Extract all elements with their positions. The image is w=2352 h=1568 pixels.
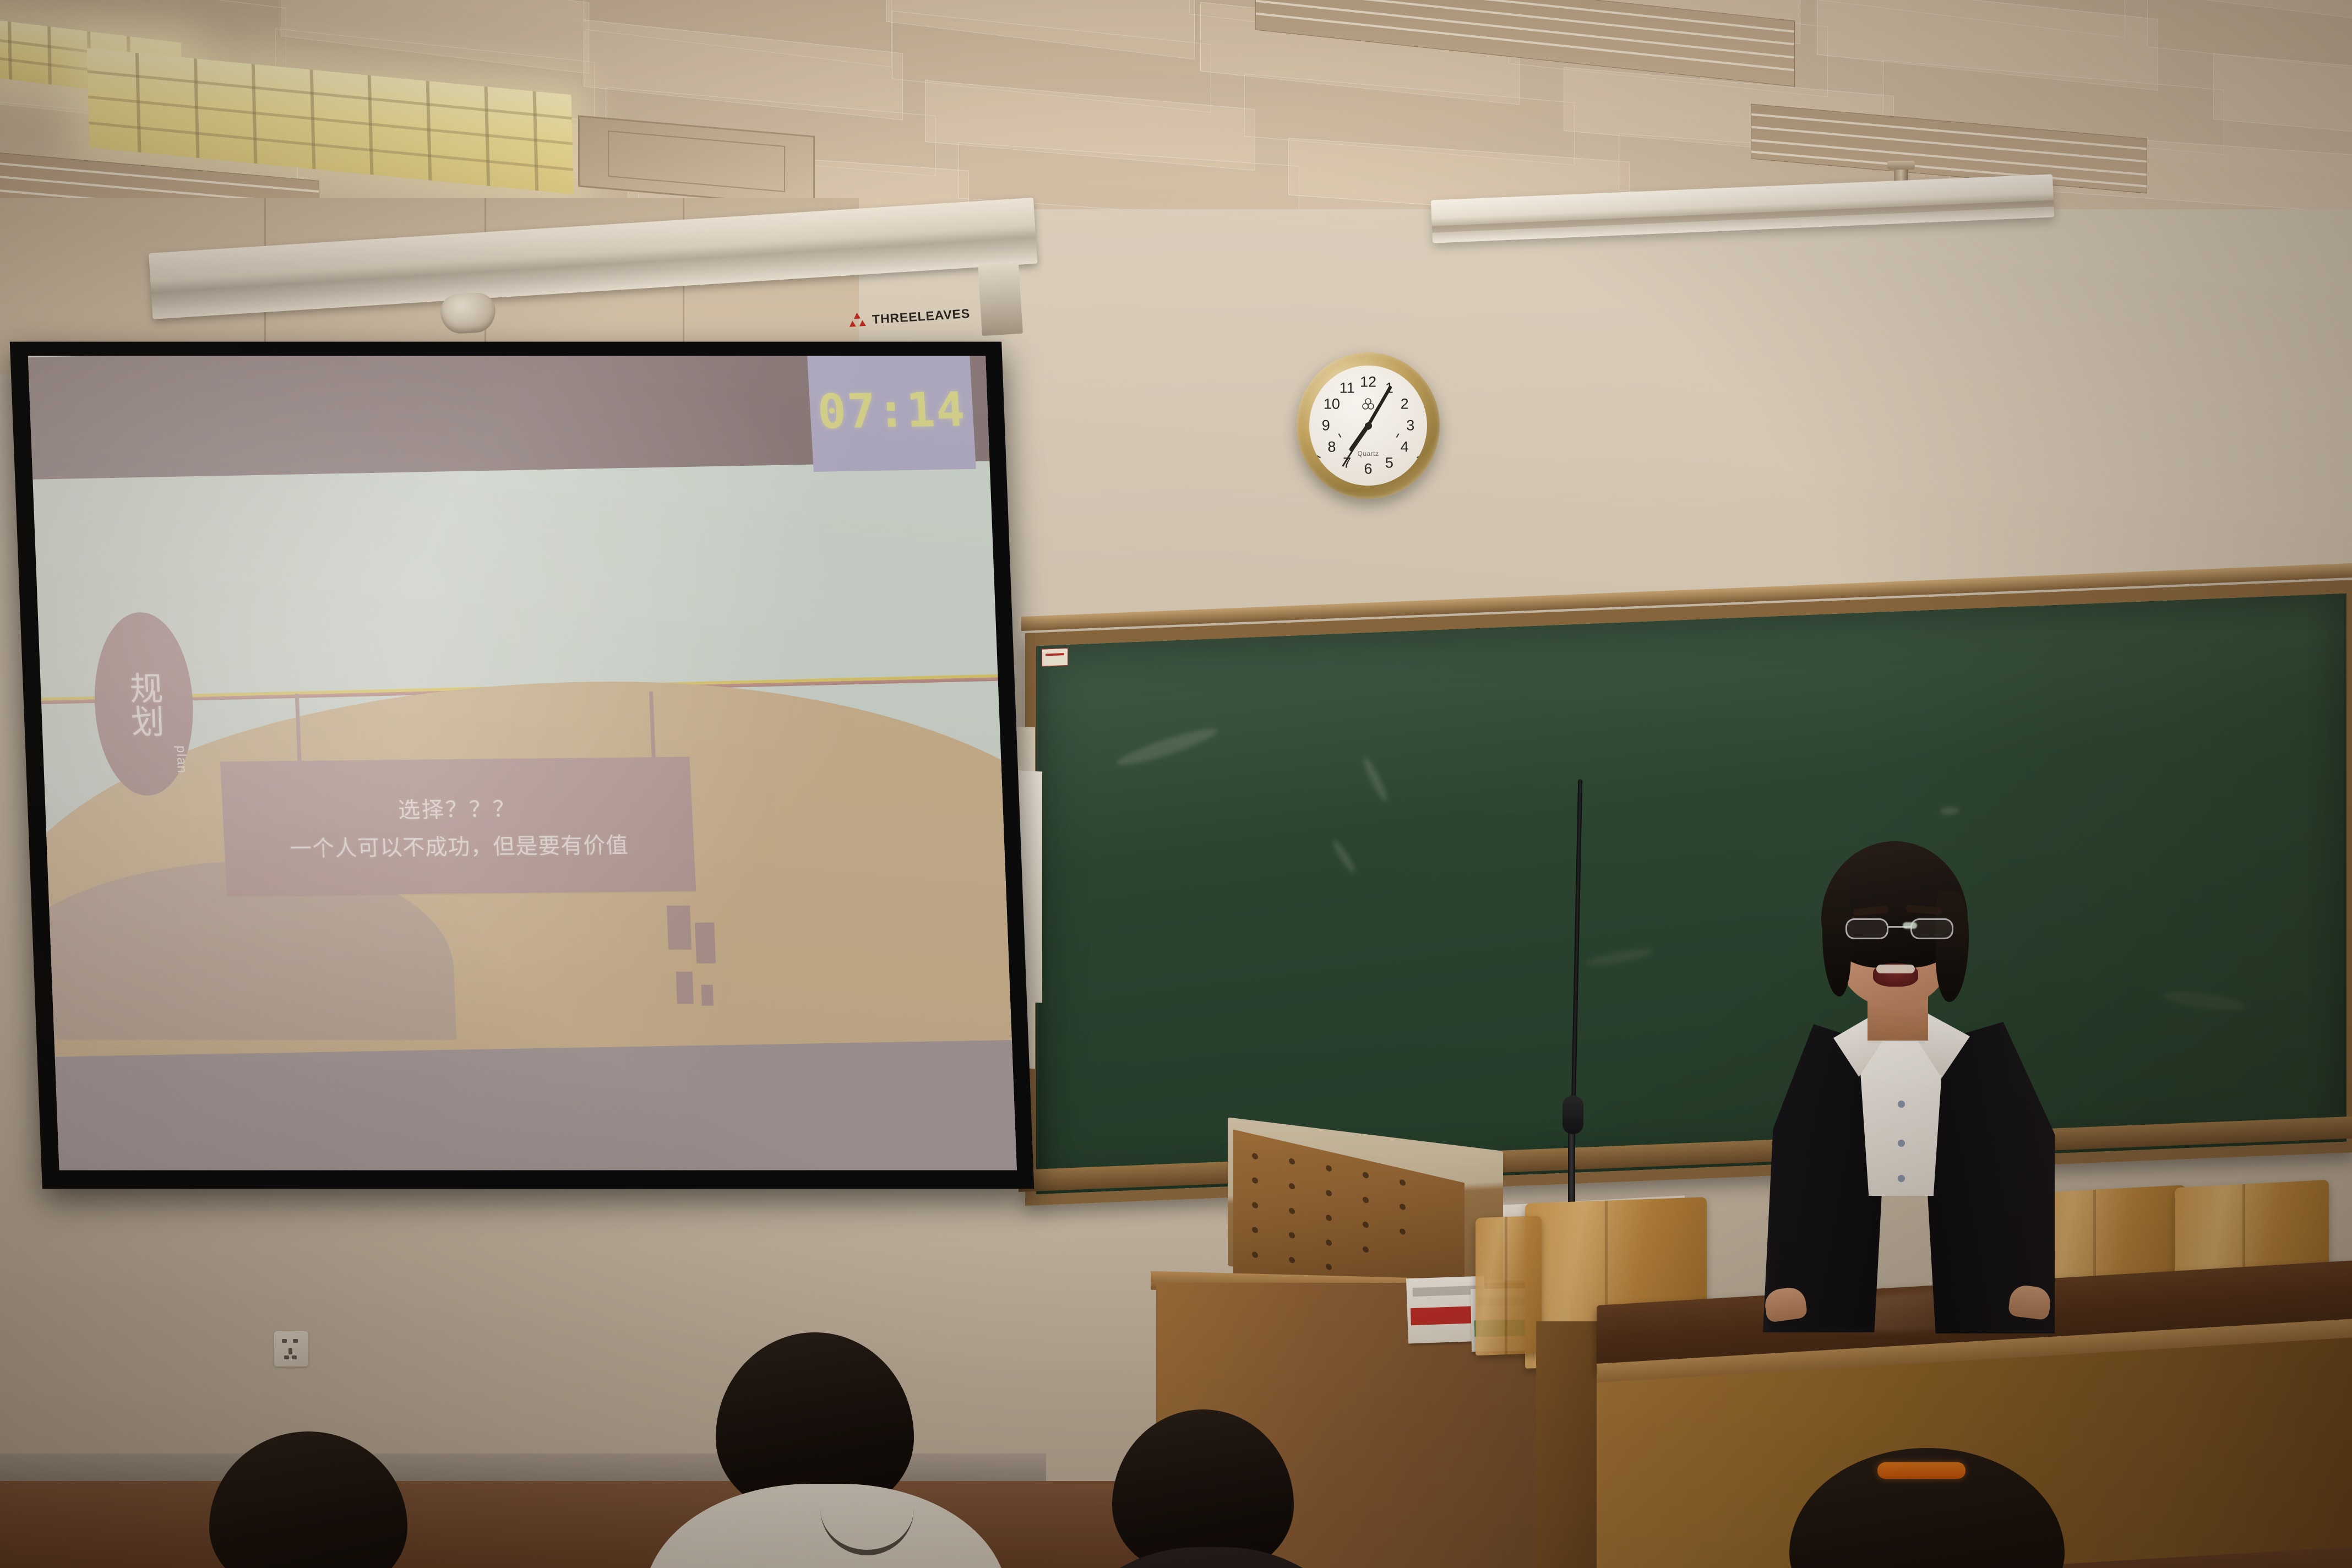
- microphone-stem: [1562, 1096, 1583, 1134]
- slide-badge-english: plan: [173, 745, 189, 774]
- clock-num-12: 12: [1360, 374, 1376, 391]
- slide-headline: 选择？？？: [397, 791, 517, 824]
- clock-num-9: 9: [1322, 417, 1330, 434]
- projection-screen[interactable]: 规划 plan 选择？？？ 一个人可以不成功，但是要有价值 剩余时间 sheng…: [10, 342, 1034, 1189]
- presenter: [1751, 826, 2059, 1321]
- clock-movement-label: Quartz: [1357, 450, 1379, 458]
- clock-num-2: 2: [1401, 395, 1409, 412]
- slide-plan-badge: 规划 plan: [91, 612, 196, 796]
- clock-num-10: 10: [1324, 395, 1340, 412]
- screen-brand-label: THREELEAVES: [872, 306, 971, 326]
- chalkboard-sticker: [1042, 648, 1068, 667]
- clock-num-11: 11: [1340, 380, 1355, 397]
- slide-bottom-band: [28, 1039, 1017, 1170]
- clock-num-5: 5: [1385, 454, 1393, 471]
- clock-num-6: 6: [1364, 460, 1372, 477]
- hair-clip-icon: [1877, 1462, 1966, 1479]
- slide-subline: 一个人可以不成功，但是要有价值: [288, 827, 629, 862]
- slide-decor-square: [667, 906, 692, 950]
- clock-brand-logo: [1361, 397, 1375, 411]
- slide-countdown-timer: 07:14: [807, 356, 976, 472]
- wall-outlet[interactable]: [274, 1331, 308, 1366]
- three-leaves-logo-icon: [847, 311, 867, 330]
- slide-decor-square: [701, 984, 714, 1005]
- slide-text-box: 选择？？？ 一个人可以不成功，但是要有价值: [220, 756, 696, 896]
- presenter-teeth: [1876, 965, 1915, 973]
- presenter-hair-left: [1822, 892, 1851, 997]
- timer-value: 07:14: [816, 382, 967, 440]
- glasses-icon: [1845, 918, 1953, 940]
- slide-surface: 规划 plan 选择？？？ 一个人可以不成功，但是要有价值 剩余时间 sheng…: [28, 356, 1017, 1170]
- clock-num-3: 3: [1406, 417, 1414, 434]
- slide-badge-chinese: 规划: [126, 671, 161, 737]
- slide-decor-square: [676, 972, 694, 1004]
- slide-decor-square: [695, 923, 716, 963]
- chalkboard: [1025, 580, 2352, 1206]
- wall-clock: 12 1 2 3 4 5 6 7 8 9 10 11 Quartz: [1297, 352, 1440, 499]
- classroom-scene: 12 1 2 3 4 5 6 7 8 9 10 11 Quartz: [0, 0, 2352, 1568]
- clock-num-4: 4: [1401, 439, 1409, 456]
- clock-num-8: 8: [1327, 439, 1336, 456]
- clock-face: 12 1 2 3 4 5 6 7 8 9 10 11 Quartz: [1309, 366, 1427, 486]
- clock-center-pin: [1365, 422, 1372, 429]
- wooden-chair-back: [1476, 1216, 1542, 1355]
